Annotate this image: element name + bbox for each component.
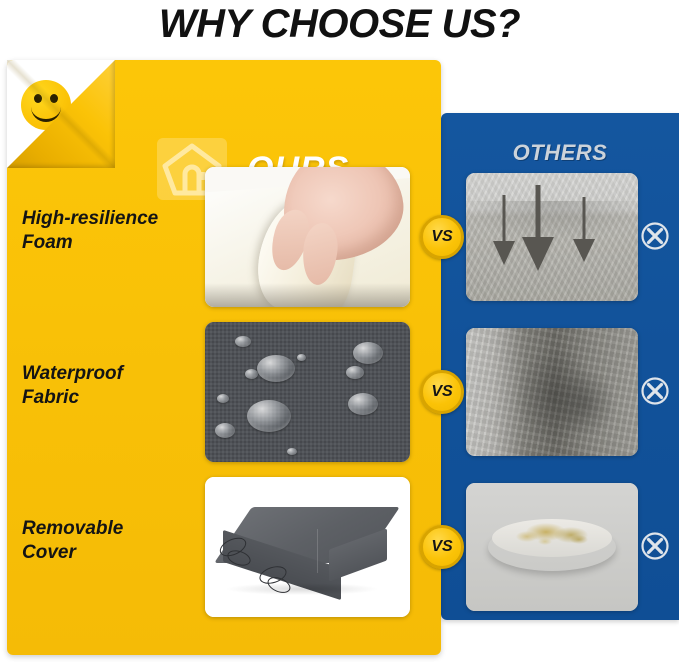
wet-soaked-fabric-photo xyxy=(466,328,638,456)
infographic-root: WHY CHOOSE US? OTHERS OURS xyxy=(0,0,679,662)
feature-label-line1: Waterproof xyxy=(22,363,123,384)
others-heading: OTHERS xyxy=(441,140,679,166)
water-droplets-beading-on-fabric-photo xyxy=(205,322,410,462)
comparison-row-cover: Removable Cover VS xyxy=(0,475,679,620)
water-droplet xyxy=(297,354,306,361)
water-droplet xyxy=(346,366,364,379)
fabric-dip-shadow xyxy=(466,201,638,241)
feature-label-line2: Cover xyxy=(22,542,76,563)
feature-label-cover: Removable Cover xyxy=(22,517,197,566)
water-droplet xyxy=(353,342,383,364)
comparison-row-waterproof: Waterproof Fabric VS xyxy=(0,320,679,465)
ours-image-waterproof xyxy=(205,322,410,462)
water-droplet xyxy=(257,355,295,382)
feature-label-waterproof: Waterproof Fabric xyxy=(22,362,197,411)
cushion-seam xyxy=(317,529,318,573)
stain-spot xyxy=(516,531,538,542)
cushion-shadow xyxy=(227,583,377,595)
page-title: WHY CHOOSE US? xyxy=(0,2,679,47)
others-image-foam xyxy=(466,173,638,301)
circle-x-icon-foam xyxy=(640,221,670,251)
ours-image-foam xyxy=(205,167,410,307)
others-image-waterproof xyxy=(466,328,638,456)
stain-spot xyxy=(570,535,588,544)
feature-label-foam: High-resilience Foam xyxy=(22,207,197,256)
water-droplet xyxy=(217,394,229,403)
feature-label-line2: Foam xyxy=(22,232,73,253)
water-droplet xyxy=(245,369,258,379)
feature-label-line1: High-resilience xyxy=(22,208,158,229)
ours-image-cover xyxy=(205,477,410,617)
foam-shadow xyxy=(205,283,410,307)
stain-spot xyxy=(538,538,552,545)
water-droplet xyxy=(215,423,235,438)
water-droplet xyxy=(348,393,378,415)
feature-label-line2: Fabric xyxy=(22,387,79,408)
vs-badge-waterproof: VS xyxy=(420,370,464,414)
others-image-cover xyxy=(466,483,638,611)
comparison-row-foam: High-resilience Foam VS xyxy=(0,165,679,310)
circle-x-icon-cover xyxy=(640,531,670,561)
circle-x-icon-waterproof xyxy=(640,376,670,406)
vs-badge-cover: VS xyxy=(420,525,464,569)
wet-blotch xyxy=(556,368,616,438)
water-droplet xyxy=(287,448,297,455)
hand-pressing-foam-photo xyxy=(205,167,410,307)
feature-label-line1: Removable xyxy=(22,518,123,539)
water-droplet xyxy=(235,336,251,347)
gray-cushion-with-tie-straps-photo xyxy=(205,477,410,617)
vs-badge-foam: VS xyxy=(420,215,464,259)
water-droplet xyxy=(247,400,291,432)
stained-round-cushion-photo xyxy=(466,483,638,611)
sagging-fabric-with-down-arrows-photo xyxy=(466,173,638,301)
